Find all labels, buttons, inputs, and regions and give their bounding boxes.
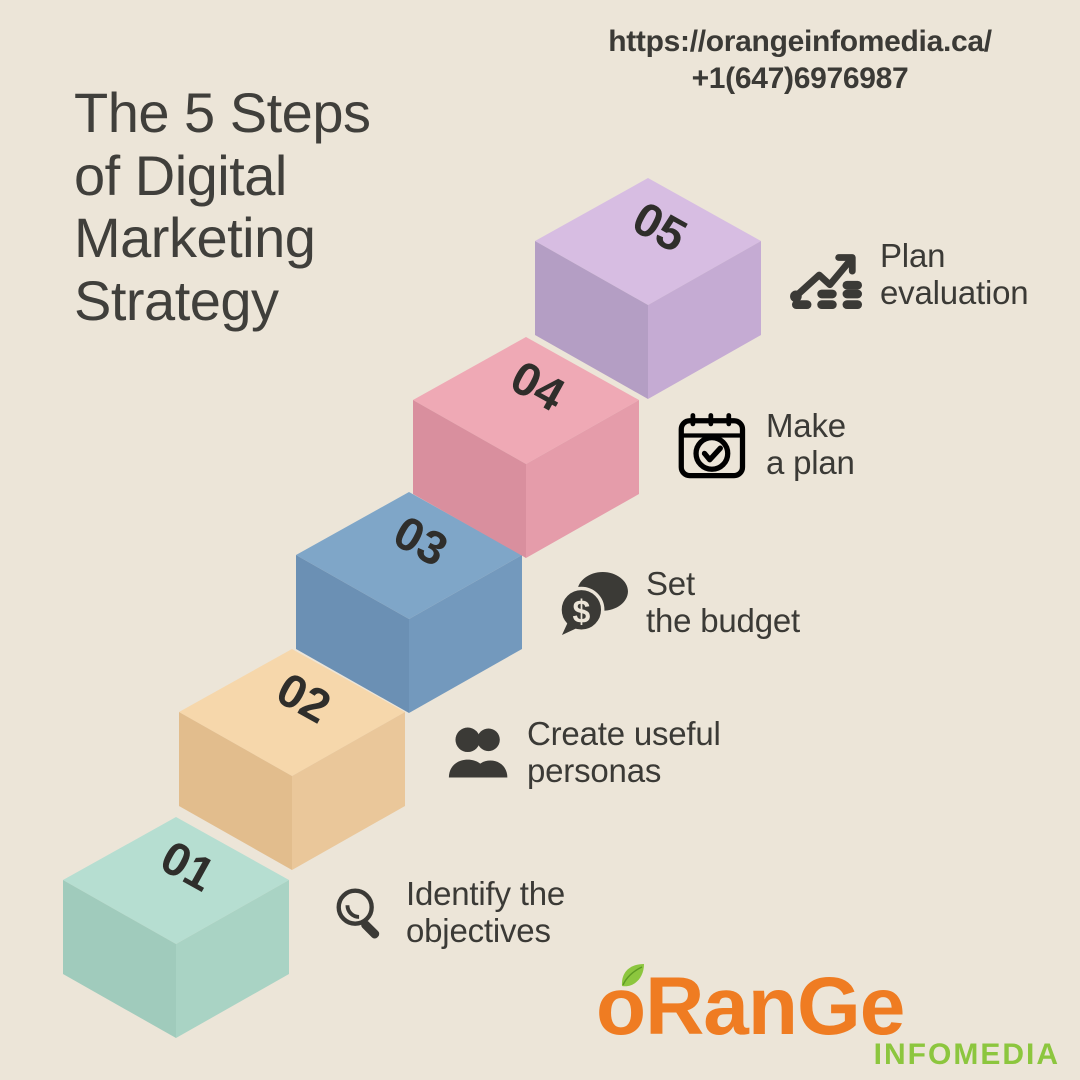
step-label-text: Create useful personas [527, 716, 721, 790]
logo-wordmark: oRanGe [596, 966, 1066, 1048]
people-icon [447, 724, 513, 782]
step-label-03[interactable]: $ Set the budget [556, 566, 800, 640]
svg-text:$: $ [572, 593, 590, 629]
step-label-02[interactable]: Create useful personas [447, 716, 721, 790]
step-label-04[interactable]: Make a plan [676, 408, 855, 482]
step-label-text: Identify the objectives [406, 876, 565, 950]
magnifier-icon [330, 882, 392, 944]
calendar-check-icon [676, 409, 752, 481]
step-label-text: Plan evaluation [880, 238, 1028, 312]
step-label-text: Set the budget [646, 566, 800, 640]
step-label-text: Make a plan [766, 408, 855, 482]
infographic-canvas: https://orangeinfomedia.ca/ +1(647)69769… [0, 0, 1080, 1080]
leaf-icon [620, 962, 646, 992]
logo[interactable]: oRanGe INFOMEDIA [596, 966, 1066, 1076]
money-chat-icon: $ [556, 570, 632, 636]
growth-chart-icon [788, 240, 866, 310]
step-label-05[interactable]: Plan evaluation [788, 238, 1028, 312]
logo-subtitle: INFOMEDIA [874, 1038, 1060, 1072]
cube-step-01[interactable]: 01 [63, 817, 289, 1038]
step-label-01[interactable]: Identify the objectives [330, 876, 565, 950]
